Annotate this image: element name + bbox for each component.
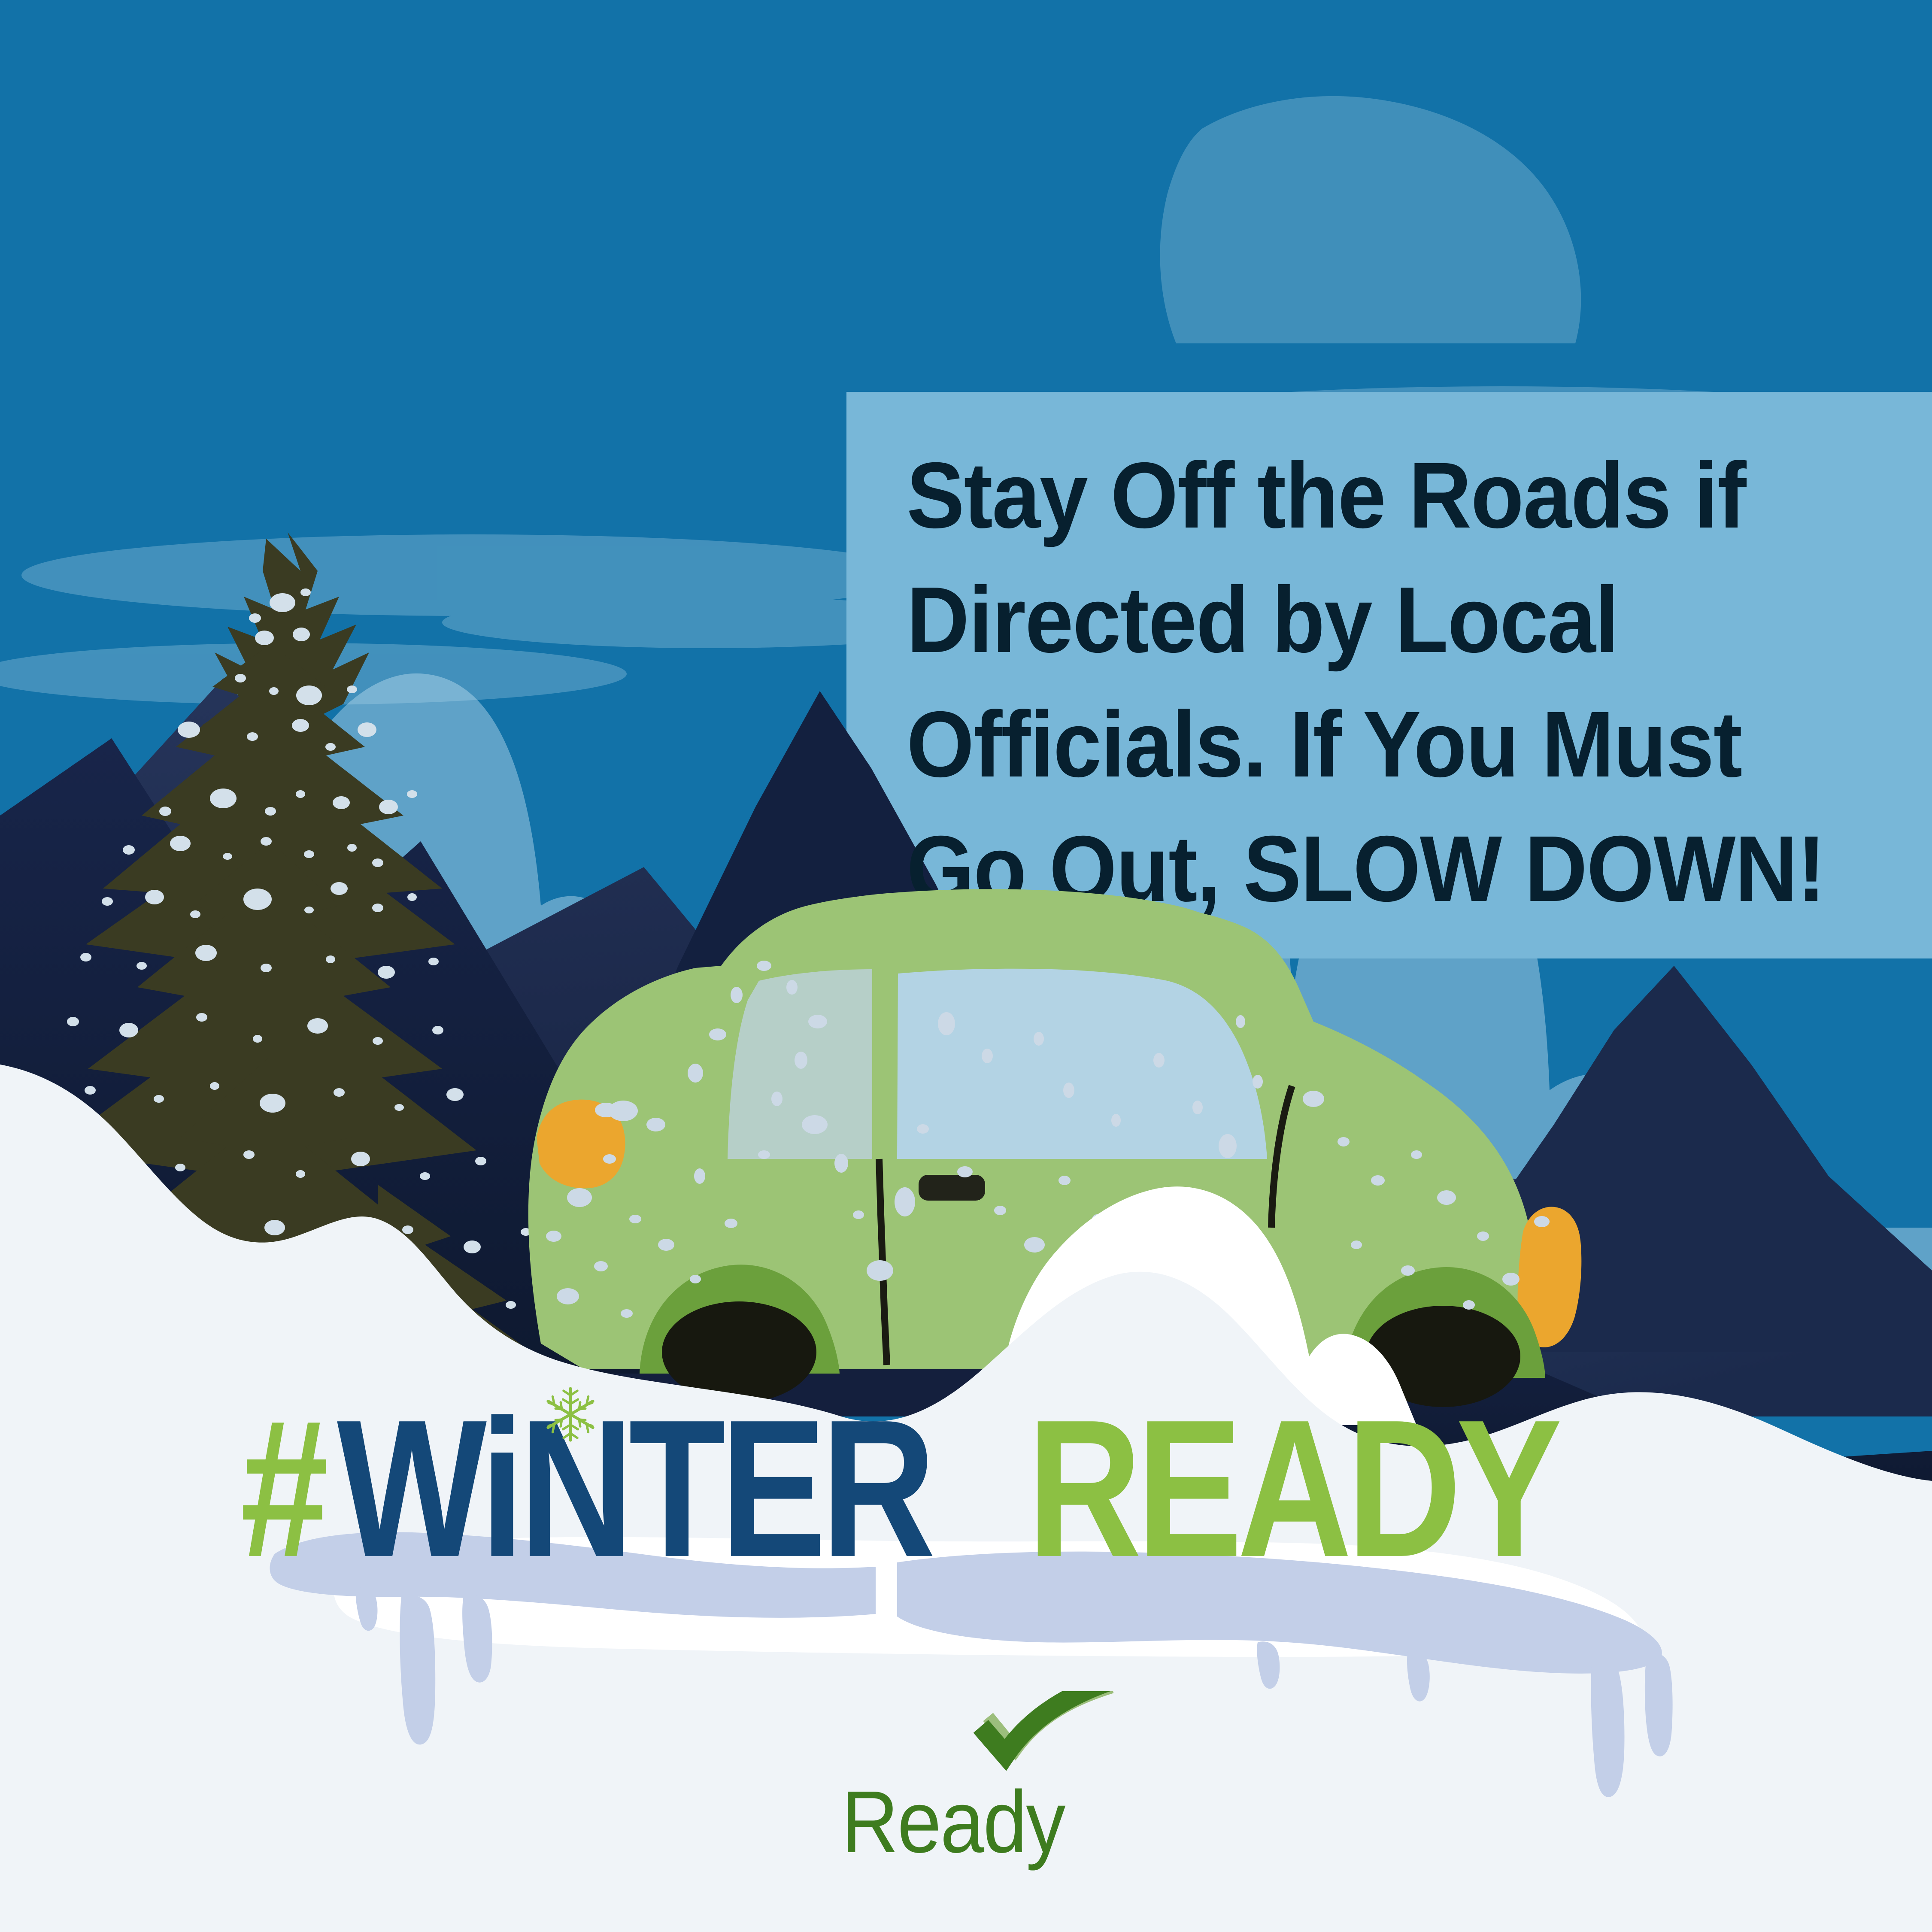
icicle-drip-long-3 <box>1591 1656 1625 1797</box>
snowflake-icon <box>542 1386 599 1443</box>
checkmark-icon <box>970 1691 1116 1781</box>
winterready-wordmark: # WiNTER READY <box>240 1399 1643 1580</box>
wordmark-hash: # <box>240 1398 324 1580</box>
winter-ready-poster: Stay Off the Roads if Directed by Local … <box>0 0 1932 1932</box>
wordmark-ready: READY <box>1027 1398 1557 1580</box>
icicle-drip-long-4 <box>1645 1653 1673 1756</box>
ready-logo: Ready <box>841 1691 1116 1889</box>
icicle-drip-long-1 <box>400 1595 435 1745</box>
icicle-drip-long-2 <box>462 1595 492 1682</box>
icicle-layer <box>0 0 1932 1932</box>
ready-wordmark: Ready <box>841 1777 1089 1867</box>
wordmark-winter: WiNTER <box>337 1398 931 1580</box>
